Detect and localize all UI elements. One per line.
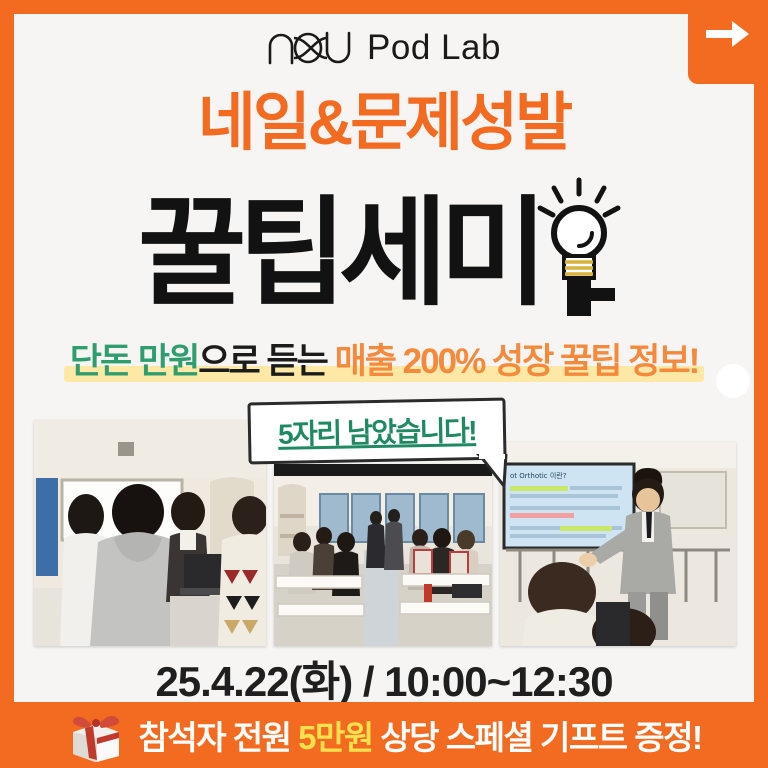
next-page-button[interactable] [688, 0, 768, 84]
subtitle-mid: 으로 듣는 [198, 342, 327, 381]
bubble-text: 5자리 남았습니다! [247, 398, 506, 465]
gift-box-icon [67, 710, 125, 762]
photo-consultation [34, 420, 266, 646]
main-title: 꿀팁세미 [0, 176, 768, 310]
lightbulb-icon [534, 176, 630, 316]
subtitle-price: 단돈 만원 [70, 342, 199, 381]
gift-banner-text: 참석자 전원 5만원 상당 스페셜 기프트 증정! [139, 711, 702, 759]
photo-classroom-image [274, 464, 492, 646]
photo-consultation-image [34, 420, 266, 646]
subtitle-benefit: 매출 200% 성장 꿀팁 정보! [335, 342, 699, 381]
brand-logo: Pod Lab [0, 28, 768, 68]
banner-text-before: 참석자 전원 [139, 719, 291, 756]
headline: 네일&문제성발 [0, 92, 768, 155]
subtitle: 단돈 만원으로 듣는 매출 200% 성장 꿀팁 정보! [0, 333, 768, 384]
banner-text-after: 상당 스페셜 기프트 증정! [380, 719, 701, 756]
photo-presentation-image: ot Orthotic 이란? [500, 442, 736, 646]
schedule-dateline: 25.4.22(화) / 10:00~12:30 [0, 648, 768, 709]
nou-infinity-logo-mark [267, 30, 353, 66]
photo-presentation: ot Orthotic 이란? [500, 442, 736, 646]
banner-gift-amount: 5만원 [298, 719, 373, 756]
gift-banner: 참석자 전원 5만원 상당 스페셜 기프트 증정! [0, 702, 768, 768]
promo-poster: Pod Lab 네일&문제성발 꿀팁세미 [0, 0, 768, 768]
right-arrow-icon [706, 19, 750, 49]
seats-remaining-bubble: 5자리 남았습니다! [248, 400, 506, 462]
subtitle-band: 단돈 만원으로 듣는 매출 200% 성장 꿀팁 정보! [64, 333, 704, 384]
photo-classroom [274, 464, 492, 646]
logo-text: Pod Lab [367, 28, 501, 68]
svg-text:ot Orthotic 이란?: ot Orthotic 이란? [510, 471, 567, 480]
main-title-text: 꿀팁세미 [138, 198, 540, 310]
